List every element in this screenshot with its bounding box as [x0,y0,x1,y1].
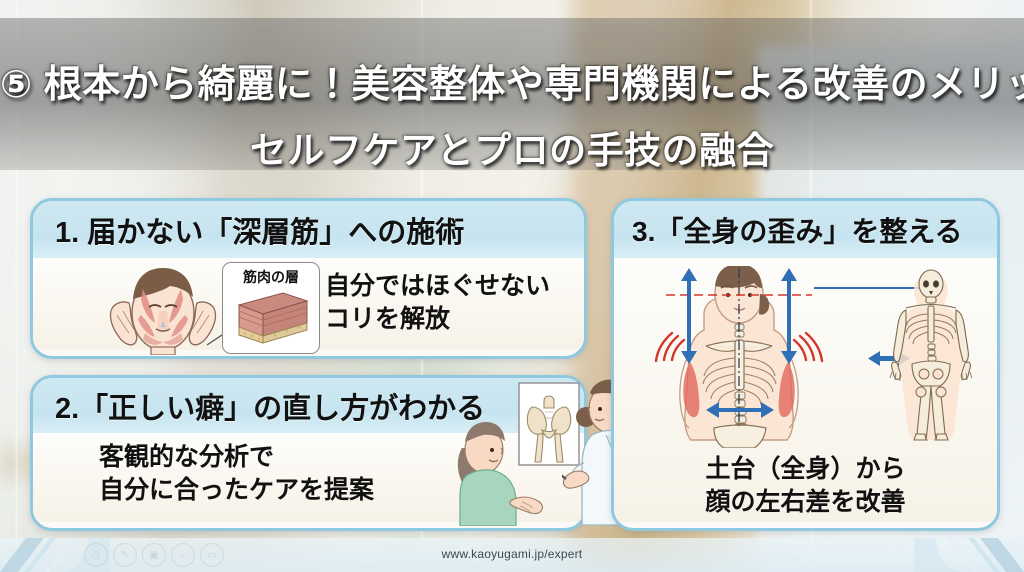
muscle-block-icon [231,287,311,347]
card3-header: 3.「全身の歪み」を整える [614,201,997,258]
footer-url[interactable]: www.kaoyugami.jp/expert [0,547,1024,561]
card2-heading: 2.「正しい癖」の直し方がわかる [55,385,485,427]
full-skeleton-icon [876,268,986,446]
card1-header: 1. 届かない「深層筋」への施術 [33,201,584,258]
content-area: 1. 届かない「深層筋」への施術 自分ではほぐせない コリを解放 [0,170,1024,540]
slide-canvas: ⑤ 根本から綺麗に！美容整体や専門機関による改善のメリット セルフケアとプロの手… [0,0,1024,572]
card-deep-muscle-treatment[interactable]: 1. 届かない「深層筋」への施術 自分ではほぐせない コリを解放 [30,198,587,359]
header-band: ⑤ 根本から綺麗に！美容整体や専門機関による改善のメリット セルフケアとプロの手… [0,18,1024,170]
card3-heading: 3.「全身の歪み」を整える [632,210,963,250]
page-subtitle: セルフケアとプロの手技の融合 [0,128,1024,174]
card-whole-body-alignment[interactable]: 3.「全身の歪み」を整える [611,198,1000,531]
card3-body-text: 土台（全身）から 顔の左右差を改善 [614,453,997,519]
card1-body-text: 自分ではほぐせない コリを解放 [325,270,550,336]
footer-bar: ◷ ✎ ▣ ⌕ ▭ www.kaoyugami.jp/expert [0,538,1024,572]
muscle-layer-label: 筋肉の層 [222,267,320,287]
card2-body-text: 客観的な分析で 自分に合ったケアを提案 [99,441,374,507]
card1-heading: 1. 届かない「深層筋」への施術 [55,209,464,251]
card3-body: 土台（全身）から 顔の左右差を改善 [614,258,997,522]
page-title: ⑤ 根本から綺麗に！美容整体や専門機関による改善のメリット [0,62,1024,108]
client-woman-icon [440,420,552,526]
muscle-layer-callout: 筋肉の層 [222,262,320,354]
